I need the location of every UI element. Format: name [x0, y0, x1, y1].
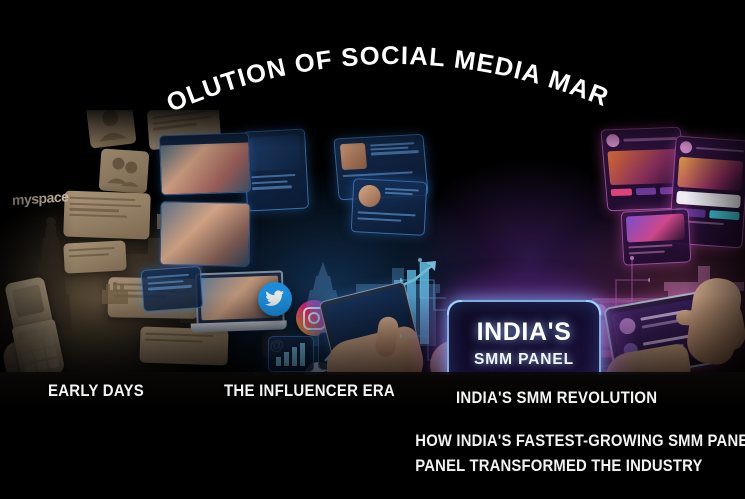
- badge-title: INDIA'S: [477, 320, 572, 345]
- caption-line-1: HOW INDIA'S FASTEST-GROWING SMM PANEL: [415, 429, 690, 454]
- banner-image: myspace f: [0, 110, 745, 375]
- banner-vignette: [0, 110, 745, 375]
- section-label-smm-revolution: INDIA'S SMM REVOLUTION: [456, 388, 657, 408]
- badge-subtitle: SMM PANEL: [474, 351, 574, 369]
- section-label-early-days: EARLY DAYS: [48, 381, 144, 401]
- poster-title: THE EVOLUTION OF SOCIAL MEDIA MARKETING: [0, 0, 745, 118]
- poster-caption: HOW INDIA'S FASTEST-GROWING SMM PANEL PA…: [400, 429, 706, 479]
- poster-root: myspace f: [0, 0, 745, 499]
- center-badge: INDIA'S SMM PANEL: [447, 300, 601, 375]
- title-arc-svg: THE EVOLUTION OF SOCIAL MEDIA MARKETING: [0, 0, 745, 118]
- caption-line-2: PANEL TRANSFORMED THE INDUSTRY: [415, 454, 690, 479]
- section-label-influencer-era: THE INFLUENCER ERA: [224, 381, 395, 401]
- title-text: THE EVOLUTION OF SOCIAL MEDIA MARKETING: [0, 0, 613, 118]
